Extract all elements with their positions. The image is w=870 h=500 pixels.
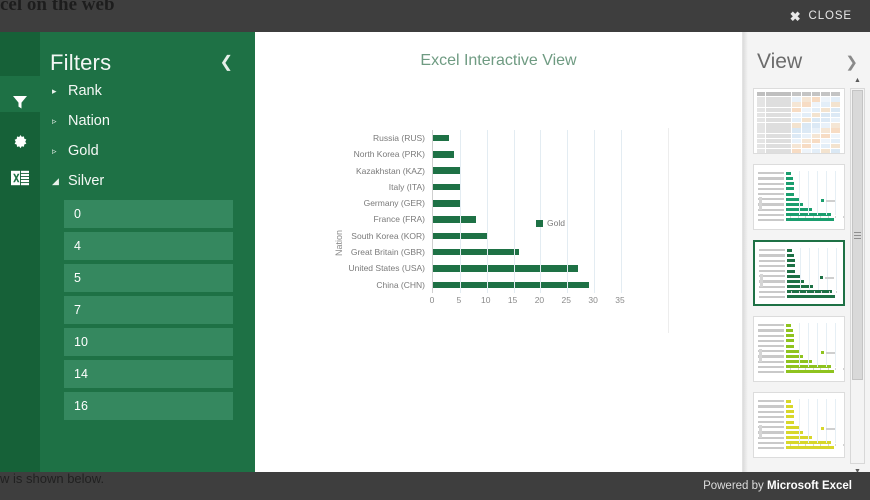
thumbnail-legend-swatch [820, 276, 823, 279]
thumbnail-category-label [758, 329, 784, 331]
thumbnail-legend [820, 276, 834, 279]
excel-interactive-view-app: Filters ❮ ▸Rank▹Nation▹Gold◢Silver 04571… [0, 32, 870, 472]
filter-group-label: Nation [68, 113, 110, 129]
thumbnail-axis-tick [790, 368, 791, 370]
filter-value-item[interactable]: 10 [64, 327, 233, 356]
thumbnail-table-cell [792, 113, 801, 117]
thumbnail-axis-tick [798, 444, 799, 446]
thumbnail-gridline [809, 248, 810, 290]
chart-bar[interactable] [433, 200, 460, 207]
thumbnail-axis-tick [843, 444, 844, 446]
thumbnail-table-cell [802, 134, 811, 138]
thumbnail-table-cell [821, 118, 830, 122]
thumbnail-category-label [759, 249, 785, 251]
filter-group-nation[interactable]: ▹Nation [40, 106, 255, 136]
thumbnail-table-row [757, 144, 841, 148]
thumbnail-bar [787, 275, 800, 278]
thumbnail-axis [790, 213, 836, 218]
thumbnail-table-row [757, 123, 841, 127]
thumbnail-table-cell [812, 134, 821, 138]
thumbnail-table-cell [812, 92, 821, 96]
filter-group-gold[interactable]: ▹Gold [40, 136, 255, 166]
thumbnail-axis-tick [790, 216, 791, 218]
chart-x-tick-label: 15 [508, 295, 517, 305]
thumbnail-table-cell [766, 144, 791, 148]
chart-bar-row [433, 244, 620, 260]
chart-category-labels: Russia (RUS)North Korea (PRK)Kazakhstan … [255, 130, 432, 293]
chart-x-tick-label: 35 [615, 295, 624, 305]
filter-value-item[interactable]: 16 [64, 391, 233, 420]
thumbnail-bar [787, 259, 795, 262]
filter-icon[interactable] [0, 84, 40, 120]
view-thumbnail-chart[interactable] [753, 392, 845, 458]
thumbnail-table-cell [757, 113, 765, 117]
thumbnail-axis-tick [805, 444, 806, 446]
triangle-expanded-icon: ◢ [52, 177, 61, 186]
thumbnail-gridline [818, 248, 819, 290]
thumbnail-table-cell [831, 113, 840, 117]
thumbnail-table-cell [792, 128, 801, 132]
thumbnail-gridline [799, 323, 800, 367]
thumbnail-table-cell [802, 118, 811, 122]
thumbnail-bar-row [758, 218, 840, 223]
thumbnail-bar-row [758, 446, 840, 451]
chart-x-tick-label: 5 [456, 295, 461, 305]
thumbnail-category-label [758, 366, 784, 368]
thumbnail-chart-rows [758, 323, 840, 373]
chart-x-axis-ticks: 05101520253035 [432, 293, 620, 309]
thumbnail-category-label [758, 177, 784, 179]
thumbnail-axis-tick [813, 216, 814, 218]
chart-legend: Gold [536, 218, 565, 228]
close-button[interactable]: ✖ CLOSE [782, 6, 870, 27]
chart-bar[interactable] [433, 249, 519, 256]
thumbnail-axis [791, 288, 835, 293]
thumbnail-axis-tick [820, 444, 821, 446]
thumbnail-table-cell [802, 123, 811, 127]
thumbnail-table-cell [831, 149, 840, 153]
chart-bar[interactable] [433, 184, 460, 191]
chart-gridline [540, 130, 541, 293]
chart-bar-row [433, 163, 620, 179]
thumbnail-table-row [757, 113, 841, 117]
close-button-label: CLOSE [809, 10, 853, 22]
thumbnail-table-cell [766, 102, 791, 106]
view-panel: View ❯ ▲ ▼ [742, 32, 870, 472]
thumbnail-axis-tick [813, 444, 814, 446]
thumbnail-legend-label [826, 200, 835, 202]
thumbnail-bar [787, 264, 795, 267]
thumbnail-table-row [757, 97, 841, 101]
thumbnail-bar [787, 249, 792, 252]
excel-icon[interactable] [0, 160, 40, 196]
chart-category-label: China (CHN) [255, 277, 432, 293]
thumbnail-gridline [799, 171, 800, 215]
thumbnail-legend-label [825, 277, 834, 279]
thumbnail-category-label [758, 172, 784, 174]
thumbnail-legend [821, 427, 835, 430]
thumbnail-table-cell [766, 134, 791, 138]
thumbnail-legend [821, 199, 835, 202]
thumbnail-chart-rows [759, 248, 839, 296]
thumbnail-bar [786, 345, 794, 348]
thumbnail-table-cell [812, 108, 821, 112]
thumbnail-category-label [758, 400, 784, 402]
thumbnail-category-label [758, 183, 784, 185]
thumbnail-axis-tick [821, 291, 822, 293]
thumbnail-table-cell [821, 102, 830, 106]
thumbnail-bar [786, 187, 794, 190]
filter-value-item[interactable]: 5 [64, 263, 233, 292]
gear-icon[interactable] [0, 124, 40, 160]
thumbnail-bar [786, 350, 799, 353]
view-panel-shadow [743, 32, 748, 472]
thumbnail-bar-row [758, 370, 840, 375]
thumbnail-bar [786, 426, 799, 429]
chart-gridline [567, 130, 568, 293]
triangle-collapsed-icon: ▹ [52, 147, 61, 156]
chart-plot-area: Nation Russia (RUS)North Korea (PRK)Kaza… [255, 88, 742, 472]
thumbnail-gridline [800, 248, 801, 290]
thumbnail-table-row [757, 118, 841, 122]
triangle-collapsed-icon: ▸ [52, 87, 61, 96]
thumbnail-table-cell [812, 113, 821, 117]
chart-bar-row [433, 277, 620, 293]
overlay-topbar: ✖ CLOSE [0, 0, 870, 32]
chart-x-tick-label: 0 [430, 295, 435, 305]
thumbnail-bar [786, 370, 834, 373]
thumbnail-y-axis-label [759, 349, 762, 362]
thumbnail-bar [786, 172, 791, 175]
thumbnail-axis-tick [828, 444, 829, 446]
thumbnail-table-cell [792, 118, 801, 122]
thumbnail-axis-tick [829, 291, 830, 293]
thumbnail-table-cell [831, 128, 840, 132]
chart-bar[interactable] [433, 265, 578, 272]
thumbnail-table-cell [831, 134, 840, 138]
thumbnail-bar [786, 218, 834, 221]
thumbnail-table-cell [831, 118, 840, 122]
view-scrollbar[interactable]: ▲ ▼ [850, 88, 865, 464]
thumbnail-bar [786, 203, 803, 206]
thumbnail-table-cell [766, 128, 791, 132]
thumbnail-axis-tick [835, 368, 836, 370]
thumbnail-bar [786, 177, 793, 180]
icon-rail [0, 32, 40, 472]
thumbnail-table-cell [766, 139, 791, 143]
thumbnail-gridline [827, 248, 828, 290]
chart-category-label: Italy (ITA) [255, 179, 432, 195]
view-panel-header: View ❯ [743, 32, 870, 74]
thumbnail-axis-tick [843, 216, 844, 218]
thumbnail-table-cell [812, 123, 821, 127]
chart-x-tick-label: 25 [562, 295, 571, 305]
thumbnail-table-cell [792, 92, 801, 96]
filter-value-item[interactable]: 14 [64, 359, 233, 388]
thumbnail-bar [786, 431, 803, 434]
thumbnail-table-cell [757, 102, 765, 106]
thumbnail-axis-tick [820, 216, 821, 218]
thumbnail-table-cell [802, 113, 811, 117]
chart-category-label: South Korea (KOR) [255, 228, 432, 244]
thumbnail-table-grid [757, 92, 841, 150]
thumbnail-y-axis-label [760, 274, 763, 287]
thumbnail-gridline [835, 171, 836, 215]
view-thumbnail-chart[interactable] [753, 316, 845, 382]
close-x-icon: ✖ [790, 10, 802, 23]
thumbnail-table-cell [821, 92, 830, 96]
thumbnail-bar [786, 324, 791, 327]
chart-bar[interactable] [433, 282, 589, 289]
thumbnail-table-cell [757, 108, 765, 112]
thumbnail-table-cell [831, 123, 840, 127]
thumbnail-category-label [758, 421, 784, 423]
chart-gridline [460, 130, 461, 293]
thumbnail-table-cell [792, 97, 801, 101]
thumbnail-gridline [817, 323, 818, 367]
thumbnail-table-row [757, 149, 841, 153]
chart-gridline [594, 130, 595, 293]
chart-category-label: Great Britain (GBR) [255, 244, 432, 260]
thumbnail-bar [786, 193, 794, 196]
thumbnail-y-axis-label [759, 425, 762, 438]
thumbnail-table-cell [821, 149, 830, 153]
thumbnail-axis-tick [805, 368, 806, 370]
chart-category-label: Germany (GER) [255, 195, 432, 211]
thumbnail-gridline [817, 399, 818, 443]
thumbnail-table-cell [812, 139, 821, 143]
thumbnail-table-cell [812, 102, 821, 106]
legend-swatch-gold [536, 220, 543, 227]
thumbnail-table-cell [812, 149, 821, 153]
thumbnail-category-label [759, 291, 785, 293]
filters-panel: Filters ❮ ▸Rank▹Nation▹Gold◢Silver 04571… [40, 32, 255, 472]
filter-value-item[interactable]: 4 [64, 231, 233, 260]
thumbnail-bar [786, 339, 794, 342]
thumbnail-table-cell [831, 139, 840, 143]
thumbnail-table-cell [757, 134, 765, 138]
thumbnail-table-row [757, 108, 841, 112]
filter-group-list: ▸Rank▹Nation▹Gold◢Silver [40, 76, 255, 196]
chart-category-label: Russia (RUS) [255, 130, 432, 146]
thumbnail-gridline [808, 323, 809, 367]
thumbnail-legend [821, 351, 835, 354]
thumbnail-axis [790, 365, 836, 370]
chart-bar-row [433, 179, 620, 195]
thumbnail-category-label [758, 340, 784, 342]
thumbnail-axis-tick [835, 444, 836, 446]
thumbnail-table-cell [821, 144, 830, 148]
thumbnail-table-cell [766, 92, 791, 96]
chart-gridline [487, 130, 488, 293]
chart-bar[interactable] [433, 216, 476, 223]
thumbnail-table-cell [821, 123, 830, 127]
thumbnail-table-cell [757, 149, 765, 153]
thumbnail-category-label [758, 345, 784, 347]
chart-category-label: United States (USA) [255, 260, 432, 276]
thumbnail-table-cell [757, 92, 765, 96]
filter-group-label: Gold [68, 143, 99, 159]
chart-bar-row [433, 195, 620, 211]
thumbnail-table-cell [766, 123, 791, 127]
thumbnail-table-cell [812, 144, 821, 148]
chart-bar-row [433, 260, 620, 276]
chevron-right-icon[interactable]: ❯ [845, 55, 858, 70]
filter-group-silver[interactable]: ◢Silver [40, 166, 255, 196]
thumbnail-category-label [758, 188, 784, 190]
thumbnail-table-cell [766, 108, 791, 112]
thumbnail-category-label [758, 335, 784, 337]
chart-bar[interactable] [433, 135, 449, 142]
thumbnail-axis [790, 441, 836, 446]
thumbnail-table-cell [831, 92, 840, 96]
chart-bar-row [433, 228, 620, 244]
thumbnail-table-row [757, 139, 841, 143]
thumbnail-gridline [835, 399, 836, 443]
filter-group-rank[interactable]: ▸Rank [40, 76, 255, 106]
thumbnail-axis-tick [798, 216, 799, 218]
thumbnail-table-cell [802, 108, 811, 112]
view-thumbnail-table[interactable] [753, 88, 845, 154]
thumbnail-gridline [826, 399, 827, 443]
powered-by-label: Powered by Microsoft Excel [703, 480, 870, 492]
view-thumbnail-list [753, 88, 848, 466]
thumbnail-category-label [758, 416, 784, 418]
filter-value-item[interactable]: 0 [64, 199, 233, 228]
thumbnail-axis-tick [835, 216, 836, 218]
thumbnail-bar [787, 254, 794, 257]
thumbnail-table-cell [792, 134, 801, 138]
thumbnail-category-label [758, 411, 784, 413]
thumbnail-table-cell [821, 113, 830, 117]
legend-label-gold: Gold [547, 218, 565, 228]
filters-panel-header: Filters ❮ [40, 32, 255, 76]
thumbnail-axis-tick [791, 291, 792, 293]
thumbnail-table-cell [766, 149, 791, 153]
thumbnail-table-cell [802, 102, 811, 106]
thumbnail-bar [787, 295, 835, 298]
thumbnail-table-cell [757, 118, 765, 122]
thumbnail-bar [786, 410, 794, 413]
thumbnail-bar [787, 270, 795, 273]
filter-value-item[interactable]: 7 [64, 295, 233, 324]
thumbnail-gridline [835, 323, 836, 367]
chart-category-label: Kazakhstan (KAZ) [255, 163, 432, 179]
thumbnail-table-cell [757, 144, 765, 148]
overlay-bottombar: Powered by Microsoft Excel [0, 472, 870, 500]
thumbnail-table-cell [821, 128, 830, 132]
thumbnail-chart-rows [758, 171, 840, 221]
thumbnail-axis-tick [813, 368, 814, 370]
chart-right-divider [668, 128, 669, 333]
thumbnail-gridline [836, 248, 837, 290]
thumbnail-table-cell [831, 97, 840, 101]
chart-bar-row [433, 130, 620, 146]
triangle-up-icon[interactable]: ▲ [851, 74, 864, 87]
thumbnail-gridline [799, 399, 800, 443]
thumbnail-table-cell [766, 97, 791, 101]
view-thumbnail-chart[interactable] [753, 164, 845, 230]
thumbnail-table-cell [831, 108, 840, 112]
thumbnail-category-label [759, 270, 785, 272]
thumbnail-bar [786, 405, 793, 408]
scrollbar-thumb[interactable] [852, 90, 863, 380]
thumbnail-bar [786, 329, 793, 332]
thumbnail-y-axis-label [759, 197, 762, 210]
thumbnail-bar [786, 446, 834, 449]
thumbnail-axis-tick [836, 291, 837, 293]
view-thumbnail-chart[interactable] [753, 240, 845, 306]
thumbnail-table-cell [766, 118, 791, 122]
thumbnail-category-label [759, 254, 785, 256]
chart-panel: Excel Interactive View Nation Russia (RU… [255, 32, 742, 472]
thumbnail-table-cell [792, 144, 801, 148]
scrollbar-grip-icon [854, 232, 861, 239]
chart-bar-row [433, 146, 620, 162]
thumbnail-bar [786, 400, 791, 403]
thumbnail-table-cell [792, 149, 801, 153]
chart-bar[interactable] [433, 151, 454, 158]
thumbnail-axis-tick [814, 291, 815, 293]
chart-bars [432, 130, 620, 293]
thumbnail-bar [786, 415, 794, 418]
chevron-left-icon[interactable]: ❮ [216, 53, 237, 73]
thumbnail-category-label [758, 214, 784, 216]
thumbnail-table-cell [792, 102, 801, 106]
thumbnail-table-cell [792, 123, 801, 127]
triangle-down-icon[interactable]: ▼ [851, 465, 864, 472]
thumbnail-table-cell [757, 123, 765, 127]
thumbnail-table-cell [812, 118, 821, 122]
thumbnail-table-cell [792, 139, 801, 143]
chart-x-tick-label: 20 [535, 295, 544, 305]
thumbnail-axis-tick [790, 444, 791, 446]
chart-gridline [514, 130, 515, 293]
thumbnail-table-cell [802, 139, 811, 143]
thumbnail-axis-tick [828, 368, 829, 370]
thumbnail-table-cell [757, 128, 765, 132]
triangle-collapsed-icon: ▹ [52, 117, 61, 126]
thumbnail-table-cell [802, 97, 811, 101]
chart-x-tick-label: 30 [588, 295, 597, 305]
thumbnail-legend-swatch [821, 199, 824, 202]
thumbnail-axis-tick [820, 368, 821, 370]
thumbnail-table-cell [812, 128, 821, 132]
thumbnail-axis-tick [798, 368, 799, 370]
thumbnail-gridline [808, 399, 809, 443]
thumbnail-axis-tick [843, 368, 844, 370]
powered-by-brand: Microsoft Excel [767, 480, 852, 492]
chart-bar-row [433, 211, 620, 227]
filter-group-label: Rank [68, 83, 102, 99]
chart-bar[interactable] [433, 167, 460, 174]
thumbnail-axis-tick [828, 216, 829, 218]
thumbnail-table-cell [802, 128, 811, 132]
view-panel-title: View [757, 50, 802, 74]
thumbnail-axis-tick [805, 216, 806, 218]
thumbnail-bar [786, 182, 794, 185]
rail-band-top [0, 32, 40, 76]
thumbnail-table-cell [831, 144, 840, 148]
thumbnail-category-label [758, 405, 784, 407]
filters-panel-title: Filters [50, 50, 111, 76]
thumbnail-axis-tick [806, 291, 807, 293]
thumbnail-category-label [758, 371, 784, 373]
powered-by-prefix: Powered by [703, 480, 764, 492]
filter-group-label: Silver [68, 173, 104, 189]
chart-x-tick-label: 10 [481, 295, 490, 305]
thumbnail-table-row [757, 134, 841, 138]
